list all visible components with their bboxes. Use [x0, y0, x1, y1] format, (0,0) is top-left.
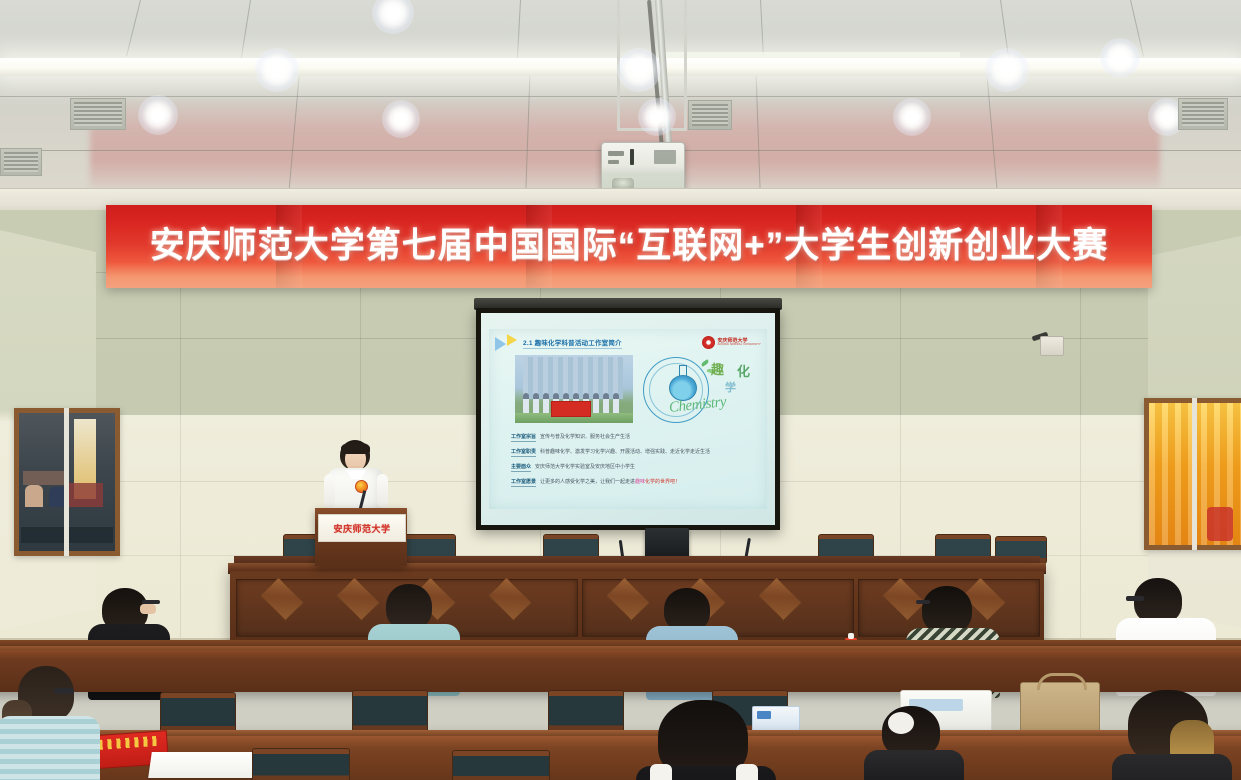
slide-body-line: 工作室愿景让更多的人感受化学之美，让我们一起走进趣味化学的世界吧！	[511, 478, 680, 485]
audience-chair	[252, 748, 350, 780]
slide-body-line: 工作室宗旨宣传与普及化学知识、服务社会生产生活	[511, 433, 630, 440]
suspended-ceiling	[0, 0, 1241, 196]
university-logo: 安庆师范大学 ANQING NORMAL UNIVERSITY	[702, 336, 761, 349]
slide-line-label: 工作室宗旨	[511, 434, 536, 442]
speaker-podium: 安庆师范大学	[315, 508, 407, 566]
ceiling-spotlight	[617, 48, 661, 92]
slide-bullet-triangle-icon	[507, 334, 517, 346]
slide-artwork-chemistry-logo: 趣 化 学 Chemistry	[639, 351, 767, 427]
handbag	[1020, 682, 1100, 736]
podium-front-panel: 安庆师范大学	[318, 514, 406, 542]
ceiling-spotlight	[1100, 38, 1140, 78]
slide-title: 2.1 趣味化学科普活动工作室简介	[523, 337, 622, 349]
right-wall-window	[1144, 398, 1241, 550]
university-logo-text: 安庆师范大学 ANQING NORMAL UNIVERSITY	[717, 339, 761, 347]
projection-screen-frame: 2.1 趣味化学科普活动工作室简介 安庆师范大学 ANQING NORMAL U…	[476, 308, 780, 530]
photo-red-banner	[551, 401, 591, 417]
ceiling-air-vent	[70, 98, 126, 130]
banner-title-text: 安庆师范大学第七届中国国际“互联网+”大学生创新创业大赛	[106, 217, 1152, 268]
slide-line-body: 宣传与普及化学知识、服务社会生产生活	[540, 434, 630, 440]
window-mullion	[1192, 398, 1197, 550]
wall-mounted-speaker	[1040, 336, 1064, 356]
hair-clip	[888, 712, 914, 734]
artwork-char-hua: 化	[737, 361, 750, 380]
slide-line-body: 安庆师范大学化学实验室及安庆地区中小学生	[535, 464, 635, 470]
presentation-slide: 2.1 趣味化学科普活动工作室简介 安庆师范大学 ANQING NORMAL U…	[489, 329, 767, 509]
left-wall-window	[14, 408, 120, 556]
event-banner: 安庆师范大学第七届中国国际“互联网+”大学生创新创业大赛	[106, 205, 1152, 288]
artwork-char-qu: 趣	[711, 359, 724, 378]
presenter-hair-front	[341, 442, 370, 454]
ceiling-seam	[126, 0, 141, 56]
audience-chair	[452, 750, 550, 780]
eyeglasses-icon	[142, 600, 160, 604]
eyeglasses-icon	[1126, 596, 1144, 601]
presenter-arm	[377, 474, 388, 508]
podium-text: 安庆师范大学	[333, 522, 390, 535]
ceiling-spotlight	[382, 100, 420, 138]
ceiling-spotlight	[638, 98, 676, 136]
ceiling-seam	[760, 0, 764, 58]
artwork-char-xue: 学	[725, 379, 736, 395]
slide-line-label: 工作室职责	[511, 449, 536, 457]
ceiling-spotlight	[985, 48, 1029, 92]
projection-screen-surface: 2.1 趣味化学科普活动工作室简介 安庆师范大学 ANQING NORMAL U…	[481, 313, 775, 525]
university-seal-icon	[702, 336, 715, 349]
slide-bullet-triangle-icon	[495, 337, 506, 351]
flask-icon	[667, 365, 697, 399]
ceiling-seam	[241, 0, 251, 59]
window-mullion	[64, 408, 69, 556]
slide-line-body: 科普趣味化学、激发学习化学兴趣、开展活动、增强实践、走近化学走近生活	[540, 449, 710, 455]
ceiling-air-vent	[1178, 98, 1228, 130]
leaf-icon	[701, 359, 710, 366]
slide-body-line: 主要面众安庆师范大学化学实验室及安庆地区中小学生	[511, 463, 635, 470]
slide-body-line: 工作室职责科普趣味化学、激发学习化学兴趣、开展活动、增强实践、走近化学走近生活	[511, 448, 710, 455]
ceiling-air-vent	[0, 148, 42, 176]
slide-line-tail: 化学的世界吧！	[645, 479, 680, 485]
slide-line-body: 让更多的人感受化学之美，让我们一起走进	[540, 479, 635, 485]
slide-line-label: 工作室愿景	[511, 479, 536, 487]
ceiling-seam	[517, 0, 521, 58]
slide-line-label: 主要面众	[511, 464, 531, 472]
slide-group-photo	[515, 355, 633, 423]
ceiling-air-vent	[688, 100, 732, 130]
ceiling-spotlight	[372, 0, 414, 34]
slide-line-highlight: 趣味	[635, 479, 645, 485]
university-name-en: ANQING NORMAL UNIVERSITY	[717, 344, 761, 347]
ceiling-spotlight	[893, 98, 931, 136]
eyeglasses-icon	[54, 688, 74, 694]
hair-bow	[736, 764, 758, 780]
ceiling-spotlight	[138, 95, 178, 135]
conference-hall-photo: 安庆师范大学第七届中国国际“互联网+”大学生创新创业大赛 2.1 趣味化学科普活…	[0, 0, 1241, 780]
eyeglasses-icon	[916, 600, 930, 604]
hair-bow	[650, 764, 672, 780]
presenter-arm	[324, 474, 335, 508]
ceiling-spotlight	[255, 48, 299, 92]
